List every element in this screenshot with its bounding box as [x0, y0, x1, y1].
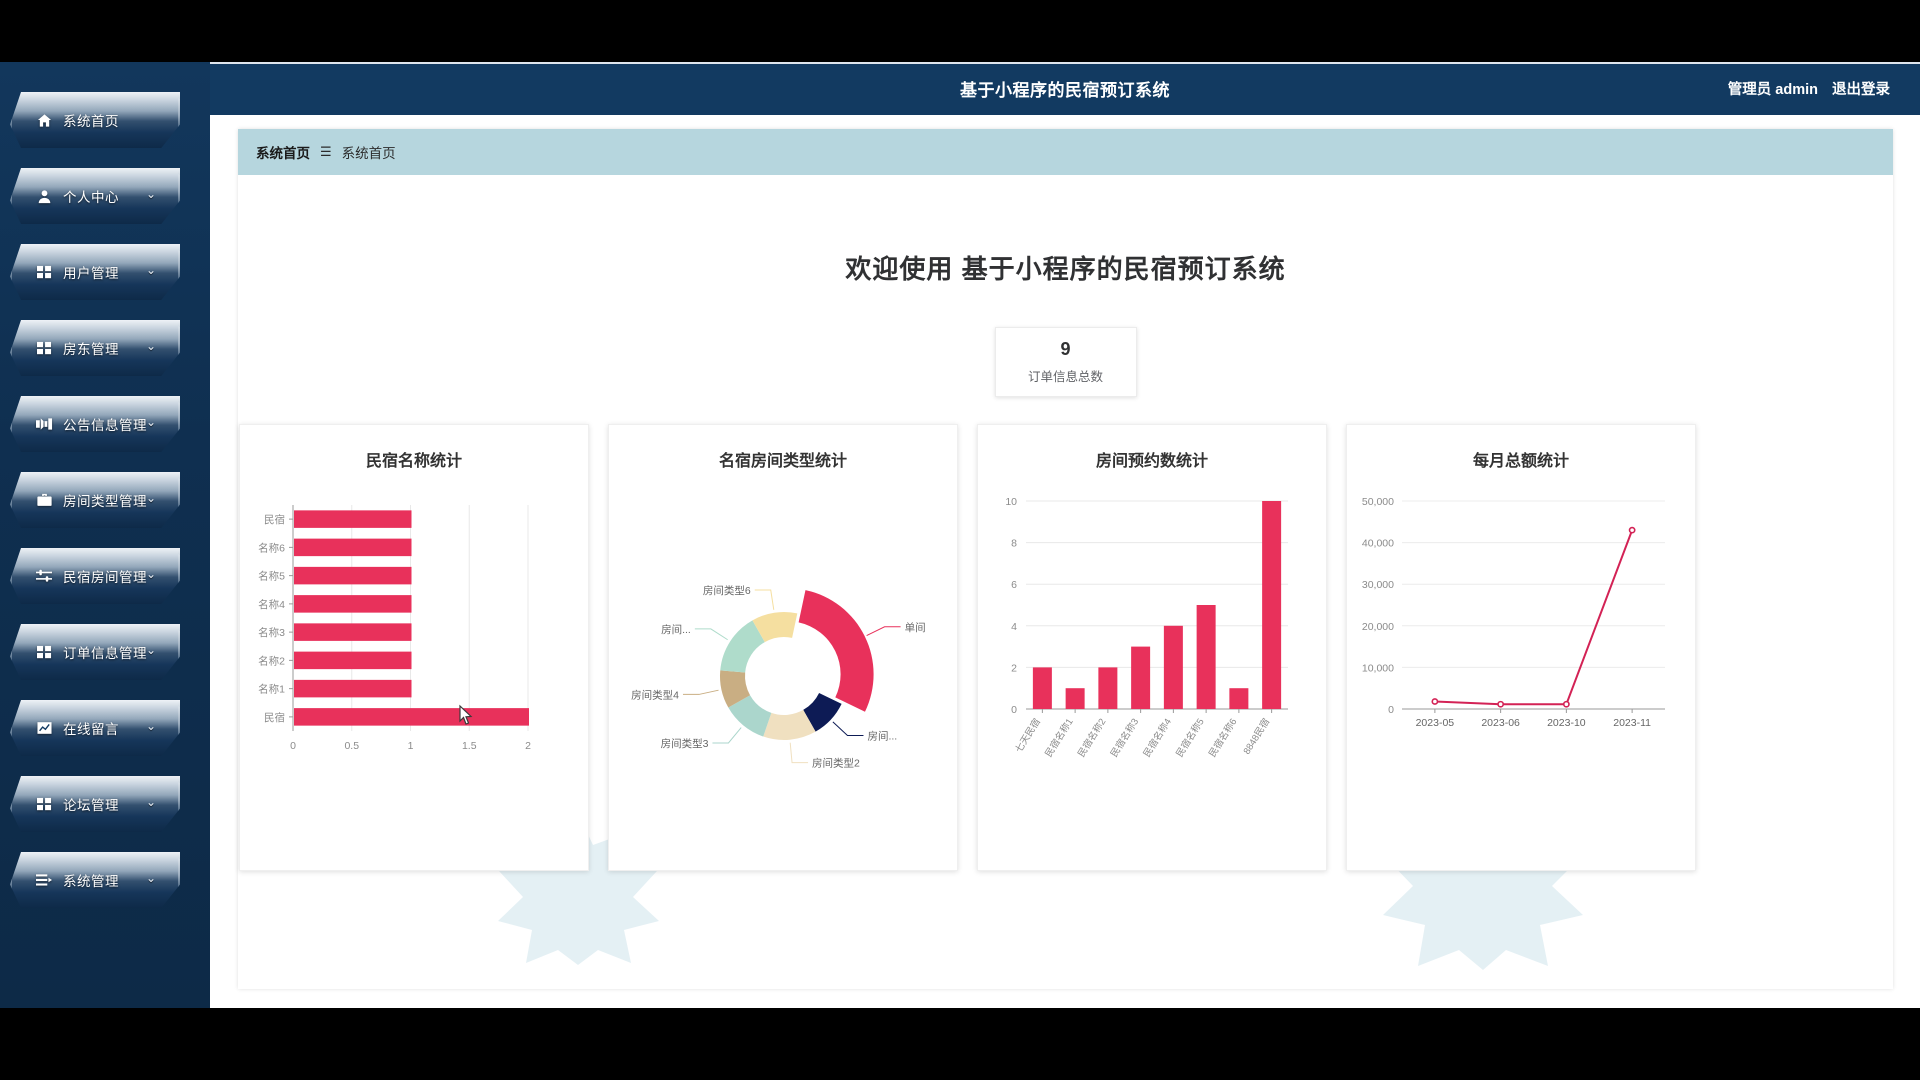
chart-icon: [32, 721, 56, 735]
svg-text:民宿名称6: 民宿名称6: [1206, 716, 1239, 759]
sidebar-item-label: 房间类型管理: [63, 490, 147, 510]
svg-text:名称3: 名称3: [258, 626, 285, 639]
chevron-down-icon[interactable]: ⌄: [146, 643, 156, 657]
sidebar-item-plate[interactable]: 公告信息管理⌄: [10, 396, 180, 452]
breadcrumb: 系统首页 ☰ 系统首页: [238, 129, 1893, 175]
svg-text:2023-10: 2023-10: [1547, 717, 1586, 729]
sidebar-item-label: 订单信息管理: [63, 642, 147, 662]
svg-text:10: 10: [1005, 496, 1017, 508]
sidebar-item-10[interactable]: 论坛管理⌄: [10, 766, 210, 842]
sidebar-item-1[interactable]: 系统首页: [10, 82, 210, 158]
sidebar-item-11[interactable]: 系统管理⌄: [10, 842, 210, 918]
chart-card-room-type: 名宿房间类型统计 单间房间...房间类型2房间类型3房间类型4房间...房间类型…: [608, 424, 958, 871]
sidebar-item-2[interactable]: 个人中心⌄: [10, 158, 210, 234]
svg-text:2023-11: 2023-11: [1613, 717, 1651, 729]
sidebar-item-plate[interactable]: 系统管理⌄: [10, 852, 180, 908]
sidebar-item-8[interactable]: 订单信息管理⌄: [10, 614, 210, 690]
sidebar-item-plate[interactable]: 论坛管理⌄: [10, 776, 180, 832]
sidebar-item-3[interactable]: 用户管理⌄: [10, 234, 210, 310]
sidebar-item-7[interactable]: 民宿房间管理⌄: [10, 538, 210, 614]
chart-title-0: 民宿名称统计: [240, 447, 588, 471]
sidebar-item-label: 在线留言: [63, 718, 119, 738]
svg-text:40,000: 40,000: [1362, 538, 1394, 550]
svg-text:名称4: 名称4: [258, 598, 285, 611]
svg-text:民宿名称2: 民宿名称2: [1075, 716, 1108, 759]
svg-text:房间类型3: 房间类型3: [661, 737, 709, 750]
svg-text:房间...: 房间...: [867, 730, 897, 743]
sidebar-item-label: 公告信息管理: [63, 414, 147, 434]
svg-text:名称1: 名称1: [258, 683, 285, 696]
screen-bottom-letterbox: [0, 1008, 1920, 1080]
svg-text:8848民宿: 8848民宿: [1241, 716, 1272, 756]
svg-text:名称5: 名称5: [258, 570, 285, 583]
svg-text:房间...: 房间...: [661, 623, 691, 636]
sidebar-item-label: 论坛管理: [63, 794, 119, 814]
chevron-down-icon[interactable]: ⌄: [146, 871, 156, 885]
svg-text:民宿: 民宿: [264, 711, 285, 724]
sidebar-item-label: 系统首页: [63, 110, 119, 130]
sidebar-item-plate[interactable]: 订单信息管理⌄: [10, 624, 180, 680]
svg-text:50,000: 50,000: [1362, 496, 1394, 508]
svg-text:1: 1: [408, 740, 414, 752]
svg-text:民宿名称4: 民宿名称4: [1141, 716, 1174, 759]
list-icon: [32, 873, 56, 887]
chart-title-1: 名宿房间类型统计: [609, 447, 957, 471]
megaphone-icon: [32, 417, 56, 431]
sliders-icon: [32, 569, 56, 583]
charts-row: 民宿名称统计 00.511.52民宿名称1名称2名称3名称4名称5名称6民宿 名…: [238, 424, 1893, 871]
chevron-down-icon[interactable]: ⌄: [146, 719, 156, 733]
chart-hbar[interactable]: 00.511.52民宿名称1名称2名称3名称4名称5名称6民宿: [240, 481, 588, 871]
grid-icon: [32, 265, 56, 279]
breadcrumb-separator-icon: ☰: [320, 144, 332, 160]
svg-text:8: 8: [1011, 538, 1017, 550]
sidebar: 系统首页个人中心⌄用户管理⌄房东管理⌄公告信息管理⌄房间类型管理⌄民宿房间管理⌄…: [0, 62, 210, 1008]
svg-text:房间类型6: 房间类型6: [703, 584, 751, 597]
user-icon: [32, 189, 56, 204]
svg-text:七天民宿: 七天民宿: [1013, 716, 1043, 755]
sidebar-item-4[interactable]: 房东管理⌄: [10, 310, 210, 386]
grid-icon: [32, 341, 56, 355]
logout-link[interactable]: 退出登录: [1832, 64, 1890, 117]
svg-text:房间类型2: 房间类型2: [812, 757, 860, 770]
svg-text:单间: 单间: [905, 621, 926, 634]
sidebar-item-plate[interactable]: 房东管理⌄: [10, 320, 180, 376]
svg-text:1.5: 1.5: [462, 740, 477, 752]
svg-text:4: 4: [1011, 621, 1017, 633]
sidebar-item-label: 房东管理: [63, 338, 119, 358]
svg-text:2: 2: [525, 740, 531, 752]
svg-text:房间类型4: 房间类型4: [631, 688, 679, 701]
chart-card-reservations: 房间预约数统计 0246810七天民宿民宿名称1民宿名称2民宿名称3民宿名称4民…: [977, 424, 1327, 871]
chevron-down-icon[interactable]: ⌄: [146, 795, 156, 809]
svg-text:民宿名称3: 民宿名称3: [1108, 716, 1141, 759]
svg-text:0: 0: [1011, 704, 1017, 716]
chevron-down-icon[interactable]: ⌄: [146, 339, 156, 353]
briefcase-icon: [32, 493, 56, 507]
svg-text:民宿名称5: 民宿名称5: [1174, 716, 1207, 759]
sidebar-item-label: 系统管理: [63, 870, 119, 890]
sidebar-item-plate[interactable]: 个人中心⌄: [10, 168, 180, 224]
sidebar-item-plate[interactable]: 在线留言⌄: [10, 700, 180, 756]
sidebar-item-plate[interactable]: 民宿房间管理⌄: [10, 548, 180, 604]
svg-text:0: 0: [290, 740, 296, 752]
chevron-down-icon[interactable]: ⌄: [146, 567, 156, 581]
stat-card-value: 9: [1060, 339, 1070, 360]
svg-text:名称6: 名称6: [258, 541, 285, 554]
chevron-down-icon[interactable]: ⌄: [146, 491, 156, 505]
current-user-label: 管理员 admin: [1728, 64, 1818, 117]
chevron-down-icon[interactable]: ⌄: [146, 263, 156, 277]
grid-icon: [32, 645, 56, 659]
breadcrumb-current: 系统首页: [342, 142, 396, 162]
app-header: 基于小程序的民宿预订系统 管理员 admin 退出登录: [210, 62, 1920, 115]
sidebar-item-label: 用户管理: [63, 262, 119, 282]
svg-text:20,000: 20,000: [1362, 621, 1394, 633]
chart-line[interactable]: 010,00020,00030,00040,00050,0002023-0520…: [1347, 481, 1695, 871]
svg-text:30,000: 30,000: [1362, 579, 1394, 591]
breadcrumb-home[interactable]: 系统首页: [256, 142, 310, 162]
sidebar-item-label: 个人中心: [63, 186, 119, 206]
content-panel: 系统首页 ☰ 系统首页 欢迎使用 基于小程序的民宿预订系统 9 订单信息总数 民…: [238, 129, 1893, 989]
chart-donut[interactable]: 单间房间...房间类型2房间类型3房间类型4房间...房间类型6: [609, 481, 957, 871]
chart-card-monthly-total: 每月总额统计 010,00020,00030,00040,00050,00020…: [1346, 424, 1696, 871]
chart-title-2: 房间预约数统计: [978, 447, 1326, 471]
svg-text:名称2: 名称2: [258, 654, 285, 667]
screen-top-letterbox: [0, 0, 1920, 62]
chart-title-3: 每月总额统计: [1347, 447, 1695, 471]
chevron-down-icon[interactable]: ⌄: [146, 187, 156, 201]
sidebar-item-plate[interactable]: 系统首页: [10, 92, 180, 148]
header-user-area: 管理员 admin 退出登录: [1728, 64, 1890, 117]
sidebar-item-label: 民宿房间管理: [63, 566, 147, 586]
sidebar-item-6[interactable]: 房间类型管理⌄: [10, 462, 210, 538]
svg-text:2023-06: 2023-06: [1481, 717, 1520, 729]
svg-text:10,000: 10,000: [1362, 662, 1394, 674]
svg-text:民宿名称1: 民宿名称1: [1043, 716, 1076, 759]
page-title: 基于小程序的民宿预订系统: [210, 64, 1920, 117]
app-root: 系统首页个人中心⌄用户管理⌄房东管理⌄公告信息管理⌄房间类型管理⌄民宿房间管理⌄…: [0, 0, 1920, 1080]
svg-text:6: 6: [1011, 579, 1017, 591]
sidebar-item-9[interactable]: 在线留言⌄: [10, 690, 210, 766]
svg-text:0.5: 0.5: [344, 740, 359, 752]
chart-card-homestay-name: 民宿名称统计 00.511.52民宿名称1名称2名称3名称4名称5名称6民宿: [239, 424, 589, 871]
sidebar-item-5[interactable]: 公告信息管理⌄: [10, 386, 210, 462]
svg-text:0: 0: [1388, 704, 1394, 716]
stat-card-order-total: 9 订单信息总数: [995, 327, 1137, 397]
svg-text:2023-05: 2023-05: [1416, 717, 1455, 729]
home-icon: [32, 113, 56, 128]
chevron-down-icon[interactable]: ⌄: [146, 415, 156, 429]
stat-card-label: 订单信息总数: [1028, 366, 1103, 385]
grid-icon: [32, 797, 56, 811]
welcome-heading: 欢迎使用 基于小程序的民宿预订系统: [238, 249, 1893, 286]
svg-text:2: 2: [1011, 662, 1017, 674]
content-area: 系统首页 ☰ 系统首页 欢迎使用 基于小程序的民宿预订系统 9 订单信息总数 民…: [210, 115, 1920, 1008]
sidebar-item-plate[interactable]: 房间类型管理⌄: [10, 472, 180, 528]
svg-text:民宿: 民宿: [264, 513, 285, 526]
sidebar-item-plate[interactable]: 用户管理⌄: [10, 244, 180, 300]
chart-vbar[interactable]: 0246810七天民宿民宿名称1民宿名称2民宿名称3民宿名称4民宿名称5民宿名称…: [978, 481, 1326, 871]
